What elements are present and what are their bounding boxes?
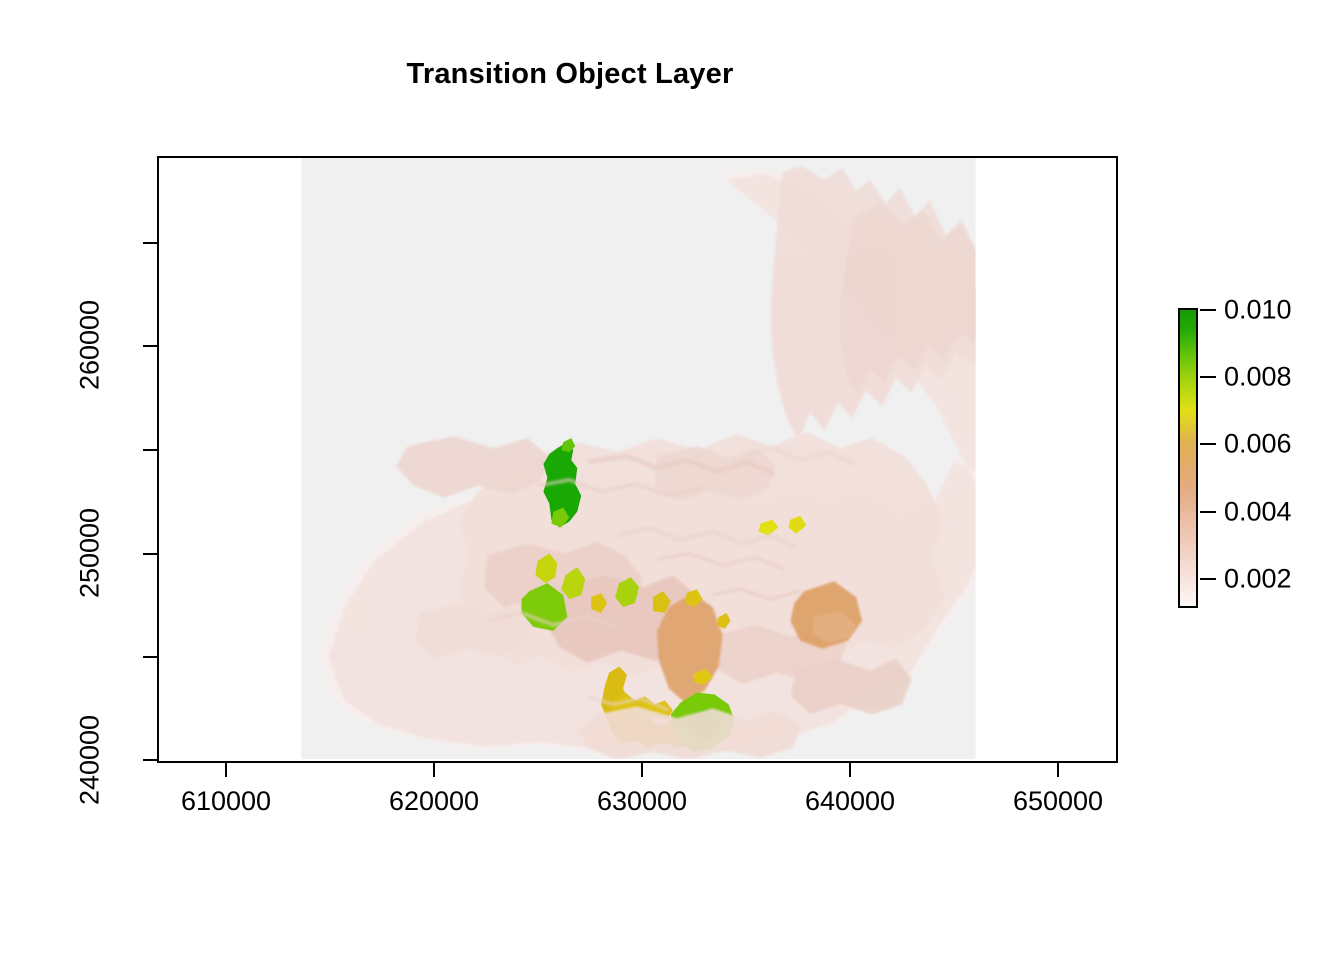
x-axis-label-4: 650000 (1013, 786, 1103, 817)
y-tick-minor-top (143, 242, 157, 244)
colorbar-tick-0.006 (1200, 443, 1216, 445)
raster-layer (159, 158, 1116, 761)
r-plot-device: Transition Object Layer (0, 0, 1344, 960)
colorbar-label-0.008: 0.008 (1224, 362, 1292, 393)
x-axis-label-0: 610000 (181, 786, 271, 817)
x-tick-640000 (849, 763, 851, 777)
x-axis-label-2: 630000 (597, 786, 687, 817)
x-axis-label-3: 640000 (805, 786, 895, 817)
x-axis-label-1: 620000 (389, 786, 479, 817)
y-tick-250000 (143, 553, 157, 555)
x-tick-630000 (641, 763, 643, 777)
y-tick-minor-mid-lower (143, 656, 157, 658)
y-axis-label-1: 250000 (75, 508, 106, 598)
colorbar-label-0.006: 0.006 (1224, 429, 1292, 460)
y-axis-label-0: 240000 (75, 715, 106, 805)
y-tick-240000 (143, 759, 157, 761)
colorbar-tick-0.002 (1200, 578, 1216, 580)
colorbar-tick-0.004 (1200, 511, 1216, 513)
colorbar-tick-0.008 (1200, 376, 1216, 378)
raster-south-east-patch (790, 659, 911, 715)
y-tick-minor-mid-upper (143, 449, 157, 451)
colorbar-label-0.002: 0.002 (1224, 564, 1292, 595)
page-title: Transition Object Layer (0, 58, 1140, 91)
y-axis-label-2: 260000 (75, 300, 106, 390)
plot-panel (157, 156, 1118, 763)
y-tick-260000 (143, 345, 157, 347)
colorbar-tick-0.010 (1200, 309, 1216, 311)
x-tick-650000 (1057, 763, 1059, 777)
colorbar (1178, 308, 1198, 608)
colorbar-label-0.010: 0.010 (1224, 295, 1292, 326)
x-tick-620000 (433, 763, 435, 777)
colorbar-label-0.004: 0.004 (1224, 497, 1292, 528)
x-tick-610000 (225, 763, 227, 777)
